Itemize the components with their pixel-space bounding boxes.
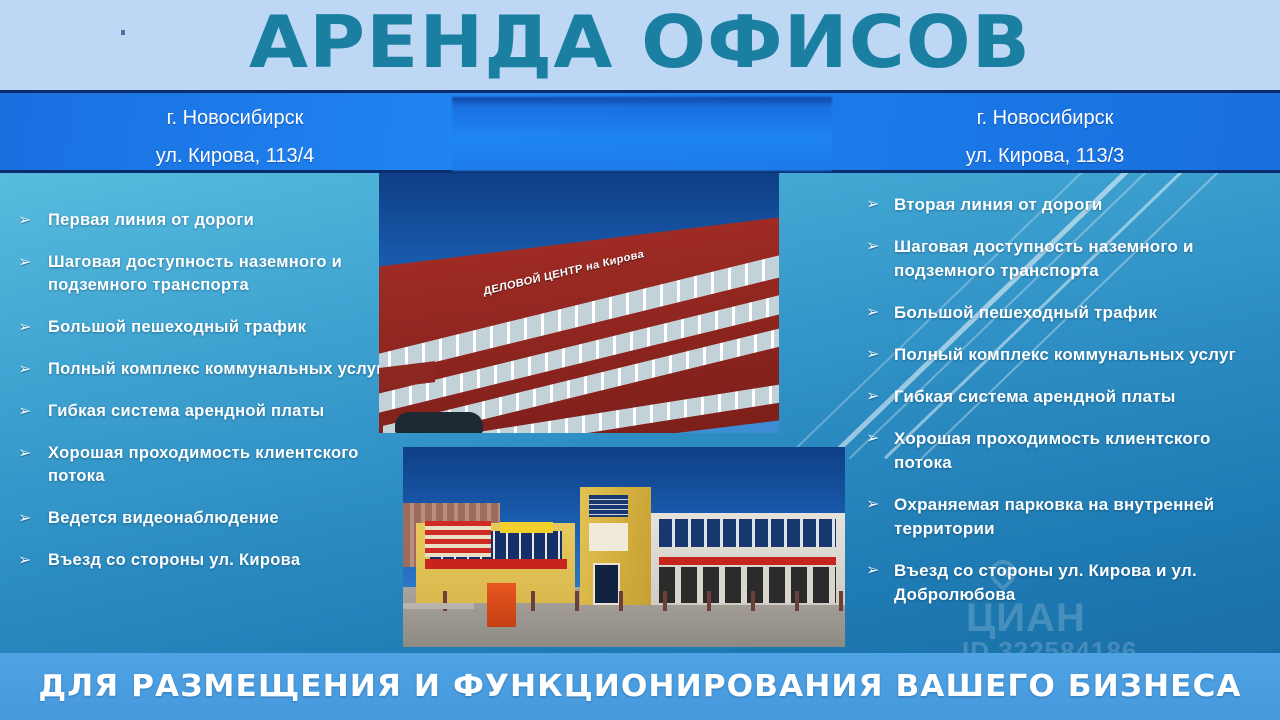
footer-tagline: ДЛЯ РАЗМЕЩЕНИЯ И ФУНКЦИОНИРОВАНИЯ ВАШЕГО… — [0, 653, 1280, 720]
list-item: ➢ Шаговая доступность наземного и подзем… — [0, 251, 400, 297]
list-item: ➢ Хорошая проходимость клиентского поток… — [0, 442, 400, 488]
phone-number-sign — [500, 522, 553, 533]
bullet-arrow-icon: ➢ — [866, 194, 880, 216]
bullet-arrow-icon: ➢ — [18, 443, 32, 465]
guard-rail — [403, 603, 474, 609]
list-item-label: Хорошая проходимость клиентского потока — [894, 429, 1211, 472]
bullet-arrow-icon: ➢ — [18, 317, 32, 339]
bullet-arrow-icon: ➢ — [18, 252, 32, 274]
tower-info-plate — [589, 523, 629, 551]
right-wing-windows — [659, 519, 836, 547]
bullet-arrow-icon: ➢ — [866, 344, 880, 366]
list-item-label: Большой пешеходный трафик — [894, 303, 1157, 322]
list-item-label: Гибкая система арендной платы — [894, 387, 1176, 406]
address-band: г. Новосибирск ул. Кирова, 113/4 г. Ново… — [0, 90, 1280, 173]
page-title: АРЕНДА ОФИСОВ — [0, 0, 1280, 88]
address-left-street: ул. Кирова, 113/4 — [20, 137, 450, 175]
list-item-label: Первая линия от дороги — [48, 211, 254, 229]
right-feature-list: ➢ Вторая линия от дороги ➢ Шаговая досту… — [852, 173, 1280, 625]
footer-band: ДЛЯ РАЗМЕЩЕНИЯ И ФУНКЦИОНИРОВАНИЯ ВАШЕГО… — [0, 653, 1280, 720]
list-item-label: Полный комплекс коммунальных услуг — [894, 345, 1236, 364]
list-item: ➢ Гибкая система арендной платы — [852, 385, 1280, 409]
list-item-label: Ведется видеонаблюдение — [48, 509, 279, 527]
bullet-arrow-icon: ➢ — [18, 401, 32, 423]
address-right-street: ул. Кирова, 113/3 — [830, 137, 1260, 175]
list-item: ➢ Полный комплекс коммунальных услуг — [852, 343, 1280, 367]
list-item: ➢ Въезд со стороны ул. Кирова — [0, 549, 400, 572]
bullet-arrow-icon: ➢ — [18, 508, 32, 530]
list-item: ➢ Вторая линия от дороги — [852, 193, 1280, 217]
list-item-label: Гибкая система арендной платы — [48, 402, 324, 420]
list-item-label: Большой пешеходный трафик — [48, 318, 306, 336]
address-left: г. Новосибирск ул. Кирова, 113/4 — [20, 93, 450, 170]
bullet-arrow-icon: ➢ — [866, 494, 880, 516]
list-item: ➢ Хорошая проходимость клиентского поток… — [852, 427, 1280, 475]
list-item: ➢ Охраняемая парковка на внутренней терр… — [852, 493, 1280, 541]
list-item: ➢ Шаговая доступность наземного и подзем… — [852, 235, 1280, 283]
bullet-arrow-icon: ➢ — [866, 428, 880, 450]
list-item-label: Въезд со стороны ул. Кирова — [48, 551, 300, 569]
list-item: ➢ Первая линия от дороги — [0, 209, 400, 232]
list-item: ➢ Большой пешеходный трафик — [852, 301, 1280, 325]
slide-root: АРЕНДА ОФИСОВ г. Новосибирск ул. Кирова,… — [0, 0, 1280, 720]
list-item: ➢ Гибкая система арендной платы — [0, 400, 400, 423]
obscured-center-region — [452, 97, 832, 171]
photo-business-center-kirova-113-4: ДЕЛОВОЙ ЦЕНТР на Кирова — [379, 173, 779, 433]
bullet-arrow-icon: ➢ — [18, 550, 32, 572]
bullet-arrow-icon: ➢ — [18, 210, 32, 232]
list-item-label: Въезд со стороны ул. Кирова и ул. Доброл… — [894, 561, 1197, 604]
bullet-arrow-icon: ➢ — [866, 236, 880, 258]
left-feature-list: ➢ Первая линия от дороги ➢ Шаговая досту… — [0, 173, 400, 591]
photo-shopping-center-kirova-113-3 — [403, 447, 845, 647]
list-item-label: Шаговая доступность наземного и подземно… — [48, 253, 342, 294]
list-item-label: Полный комплекс коммунальных услуг — [48, 360, 383, 378]
bullet-arrow-icon: ➢ — [866, 386, 880, 408]
address-right: г. Новосибирск ул. Кирова, 113/3 — [830, 93, 1260, 170]
right-wing-signband — [659, 557, 836, 565]
address-left-city: г. Новосибирск — [20, 93, 450, 137]
bullet-arrow-icon: ➢ — [18, 359, 32, 381]
bullet-arrow-icon: ➢ — [866, 302, 880, 324]
address-right-city: г. Новосибирск — [830, 93, 1260, 137]
list-item-label: Охраняемая парковка на внутренней террит… — [894, 495, 1214, 538]
billboard-advert — [425, 521, 491, 557]
list-item-label: Вторая линия от дороги — [894, 195, 1103, 214]
list-item-label: Хорошая проходимость клиентского потока — [48, 444, 359, 485]
orange-utility-cabinet — [487, 583, 516, 627]
parked-car — [395, 412, 483, 433]
left-wing-signband — [425, 559, 566, 569]
bullet-arrow-icon: ➢ — [866, 560, 880, 582]
list-item-label: Шаговая доступность наземного и подземно… — [894, 237, 1194, 280]
list-item: ➢ Ведется видеонаблюдение — [0, 507, 400, 530]
title-band: АРЕНДА ОФИСОВ — [0, 0, 1280, 90]
list-item: ➢ Большой пешеходный трафик — [0, 316, 400, 339]
tower-upper-windows — [589, 495, 629, 517]
list-item: ➢ Полный комплекс коммунальных услуг — [0, 358, 400, 381]
list-item: ➢ Въезд со стороны ул. Кирова и ул. Добр… — [852, 559, 1280, 607]
